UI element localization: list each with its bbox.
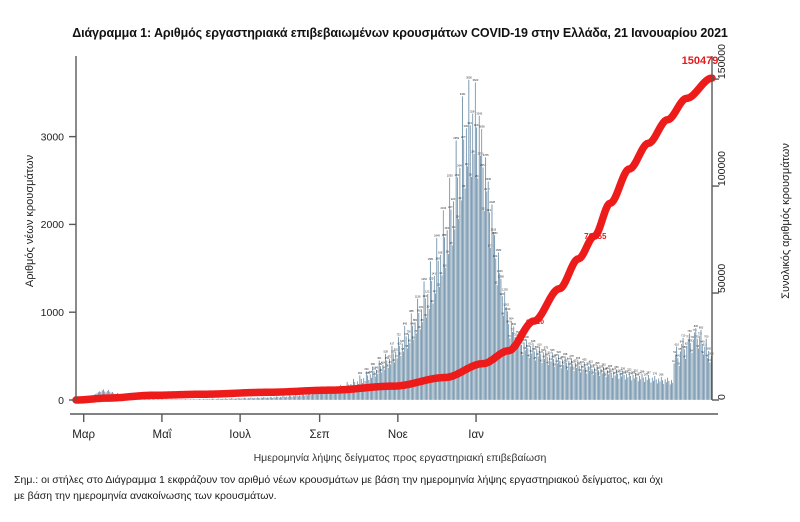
bar [459,168,460,400]
bar [513,326,514,400]
bar [539,346,540,400]
bar-value-label: 398 [595,361,600,365]
bar [497,285,498,400]
x-tick-label: Ιαν [468,429,484,441]
bar [443,210,444,400]
bar [536,349,537,400]
bar [422,322,423,400]
bar [259,398,260,400]
bar [652,377,653,400]
bar [184,399,185,400]
x-tick-label: Ιουλ [229,429,251,441]
bar [562,359,563,400]
bar [656,379,657,400]
bar [457,177,458,400]
bar-value-label: 840 [512,322,517,326]
bar [609,368,610,400]
bar [557,363,558,400]
bar [594,367,595,400]
bar [588,366,589,400]
bar [185,399,186,400]
bar [239,398,240,400]
bar [250,397,251,400]
bar [622,371,623,401]
bar [409,343,410,400]
bar [295,394,296,400]
bar [479,116,480,400]
bar [568,361,569,400]
y-tick-label-left: 1000 [41,307,65,319]
bar-value-label: 575 [544,345,549,349]
bar [666,382,667,400]
bar [268,398,269,400]
bar [470,125,471,400]
bar [270,397,271,400]
bar [252,398,253,400]
bar [217,399,218,400]
bar [159,399,160,400]
bar [657,383,658,400]
bar [263,397,264,400]
bar [633,375,634,400]
bar [216,399,217,400]
bar [281,397,282,400]
bar [211,399,212,400]
bar [526,339,527,400]
bar [288,397,289,400]
y-tick-label-right: 0 [716,394,728,400]
bar [203,399,204,400]
bar [181,399,182,400]
bar [323,393,324,400]
bar [395,352,396,400]
bar [524,342,525,400]
bar [298,396,299,400]
bar-value-label: 520 [557,350,562,354]
bar [463,139,464,400]
bar [241,398,242,400]
bar [273,397,274,400]
bar [472,113,473,400]
bar-value-label: 1062 [503,303,509,307]
bar [307,395,308,400]
bar [456,140,457,400]
bar [699,336,700,400]
bar [439,287,440,400]
bar-value-label: 1880 [492,231,498,235]
bar [662,380,663,400]
bar [695,328,696,400]
bar [416,333,417,400]
bar [518,343,519,400]
bar [575,363,576,400]
bar [190,399,191,400]
bar [182,399,183,400]
bar [650,382,651,400]
footnote-line-2: με βάση την ημερομηνία ανακοίνωσης των κ… [14,488,774,504]
bar [285,397,286,400]
bar-value-label: 2959 [453,136,459,140]
bar [535,360,536,400]
annotation-final-total: 150479 [682,55,719,67]
bar [429,309,430,400]
bar-value-label: 560 [707,347,712,351]
bar [511,321,512,400]
bar [254,398,255,400]
bar-value-label: 1849 [434,233,440,237]
bar [668,381,669,400]
bar [240,399,241,400]
bar-value-label: 1380 [498,275,504,279]
bar [462,96,463,400]
bar [264,397,265,400]
bar [372,366,373,400]
bar [545,350,546,400]
bar [291,397,292,400]
bar [230,399,231,400]
bar [167,399,168,400]
x-tick-label: Μαΐ [153,429,173,441]
bar [297,395,298,400]
bar [175,399,176,400]
bar [413,340,414,400]
bar [494,235,495,400]
x-tick-label: Μαρ [72,429,95,441]
bar [694,332,695,400]
bar-value-label: 2163 [440,206,446,210]
bar [597,365,598,400]
annotation-early-total: 36910 [526,319,544,326]
bar-value-label: 276 [653,372,658,376]
y-tick-label-right: 50000 [716,264,728,293]
bar [157,399,158,400]
bar [611,373,612,400]
bar [644,382,645,400]
bar [309,394,310,400]
bar [490,248,491,400]
bar [276,396,277,400]
x-tick-label: Σεπ [310,429,330,441]
bar [647,380,648,400]
bar [670,384,671,400]
bar [636,377,637,400]
bar-value-label: 904 [509,316,514,320]
bar-value-label: 2530 [447,174,453,178]
y-tick-label-left: 0 [58,395,64,407]
bar [698,348,699,400]
bar-value-label: 498 [563,352,568,356]
bar [218,398,219,400]
bar [231,398,232,400]
bar [209,399,210,400]
bar [253,398,254,400]
bar [512,332,513,400]
bar [232,398,233,400]
bar [503,316,504,400]
bar [158,399,159,400]
bar [649,378,650,400]
bar [630,376,631,400]
bar [665,379,666,400]
bar [621,376,622,400]
bar [311,395,312,400]
bar [663,384,664,400]
bar-value-label: 545 [550,348,555,352]
footnote: Σημ.: οι στήλες στο Διάγραμμα 1 εκφράζου… [14,472,774,504]
bar [394,362,395,400]
bar [543,352,544,400]
bar [576,368,577,400]
bar-value-label: 730 [698,332,703,336]
bar-value-label: 386 [371,362,376,366]
bar-value-label: 455 [576,356,581,360]
bar [538,356,539,400]
bar [658,378,659,400]
bar [427,294,428,400]
bar [247,398,248,400]
bar [400,356,401,400]
bar [385,354,386,400]
bar-value-label: 2490 [485,177,491,181]
bar-value-label: 282 [358,371,363,375]
bar [507,311,508,400]
bar [245,398,246,400]
bar-value-label: 2228 [489,200,495,204]
bar [453,201,454,400]
bar [166,399,167,400]
bar [153,399,154,400]
bar [561,368,562,400]
bar-value-label: 478 [569,354,574,358]
bar [212,398,213,400]
bar [449,178,450,400]
bar [177,399,178,400]
bar-value-label: 382 [601,362,606,366]
chart-container: Διάγραμμα 1: Αριθμός εργαστηριακά επιβεβ… [0,0,800,522]
bar [266,398,267,400]
bar [544,359,545,400]
bar [570,366,571,400]
bar [603,366,604,400]
bar [703,354,704,400]
bar [162,399,163,400]
bar [186,399,187,400]
bar [500,279,501,400]
bar [236,398,237,400]
bar [565,356,566,400]
bar [489,212,490,400]
bar [624,375,625,400]
bar [197,399,198,400]
annotation-mid-total: 76555 [584,232,607,241]
bar [686,346,687,400]
bar [679,366,680,400]
bar [213,399,214,400]
bar [208,399,209,400]
bar [563,365,564,400]
bar [645,377,646,400]
bar [495,258,496,400]
bar [222,398,223,400]
bar [220,399,221,400]
bar [707,358,708,400]
bar [486,191,487,400]
bar [640,379,641,400]
bar [207,399,208,400]
bar [420,329,421,400]
bar [164,399,165,400]
bar-value-label: 1352 [421,277,427,281]
bar [275,397,276,400]
bar [293,396,294,400]
bar [639,376,640,400]
bar [267,397,268,400]
bar [626,374,627,400]
bar-value-label: 700 [704,334,709,338]
bar [299,395,300,400]
bar [262,398,263,400]
bar [602,373,603,400]
bar [580,372,581,400]
bar [625,379,626,400]
bar [391,346,392,400]
bar [571,358,572,400]
bar [435,293,436,400]
bar [306,394,307,400]
bar [258,398,259,400]
bar [608,374,609,400]
bar [522,355,523,400]
bar [397,358,398,400]
bar [163,399,164,400]
bar [532,343,533,400]
bar [599,376,600,400]
bar [249,398,250,400]
bar [426,317,427,400]
bar [244,398,245,400]
bar [548,365,549,400]
bar [617,374,618,400]
bar-value-label: 3461 [460,92,466,96]
bar [530,346,531,400]
bar [294,396,295,400]
bar [382,365,383,400]
bar [313,394,314,400]
bar [586,373,587,400]
bar [653,381,654,400]
bar [204,399,205,400]
bar [257,397,258,400]
bar [541,363,542,400]
bar-value-label: 770 [693,328,698,332]
bar [672,383,673,400]
bar [481,129,482,400]
bar [188,399,189,400]
bar [558,354,559,400]
bar [661,377,662,400]
bar [421,309,422,400]
bar [606,377,607,400]
bar [631,380,632,400]
bar [221,399,222,400]
bar-value-label: 610 [537,342,542,346]
bar [554,367,555,400]
bar [475,82,476,400]
bar [200,399,201,400]
bar [488,181,489,400]
y-tick-label-left: 2000 [41,219,65,231]
bar [638,381,639,400]
bar-value-label: 1682 [496,248,502,252]
bar [498,252,499,400]
x-tick-label: Νοε [388,429,408,441]
bar [593,375,594,400]
bar [466,128,467,400]
bar [634,378,635,400]
bar [468,80,469,400]
bar-value-label: 435 [582,358,587,362]
bar [709,362,710,400]
bar [379,360,380,400]
bar [277,397,278,400]
bar [284,396,285,400]
y-tick-label-right: 100000 [716,151,728,186]
bar-value-label: 722 [396,332,401,336]
bar [289,395,290,400]
bar [226,399,227,400]
bar [304,396,305,400]
bar [206,399,207,400]
bar-value-label: 610 [703,342,708,346]
bar [280,397,281,400]
bar-value-label: 2377 [484,187,490,191]
bar [577,360,578,400]
bar [398,337,399,400]
bar [552,352,553,400]
bar [629,372,630,400]
bar [161,399,162,400]
bar [529,358,530,400]
bar [615,375,616,400]
bar [531,353,532,400]
bar [691,353,692,400]
bar-value-label: 451 [377,356,382,360]
bar [303,395,304,400]
bar [173,399,174,400]
bar [150,399,151,400]
bar [590,364,591,400]
bar [199,399,200,400]
plot-area: 2823302832953863312693452974513873154043… [0,0,800,470]
bar [550,361,551,400]
bar [680,351,681,400]
bar [170,399,171,400]
bar [408,334,409,400]
bar [574,371,575,400]
bar [180,399,181,400]
bar [229,398,230,400]
bar [549,355,550,400]
bar [176,399,177,400]
bar-value-label: 617 [390,342,395,346]
bar [279,397,280,400]
bar [582,369,583,400]
bar [407,348,408,400]
bar [189,399,190,400]
bar-value-label: 845 [403,322,408,326]
bar [234,399,235,400]
bar [286,396,287,400]
